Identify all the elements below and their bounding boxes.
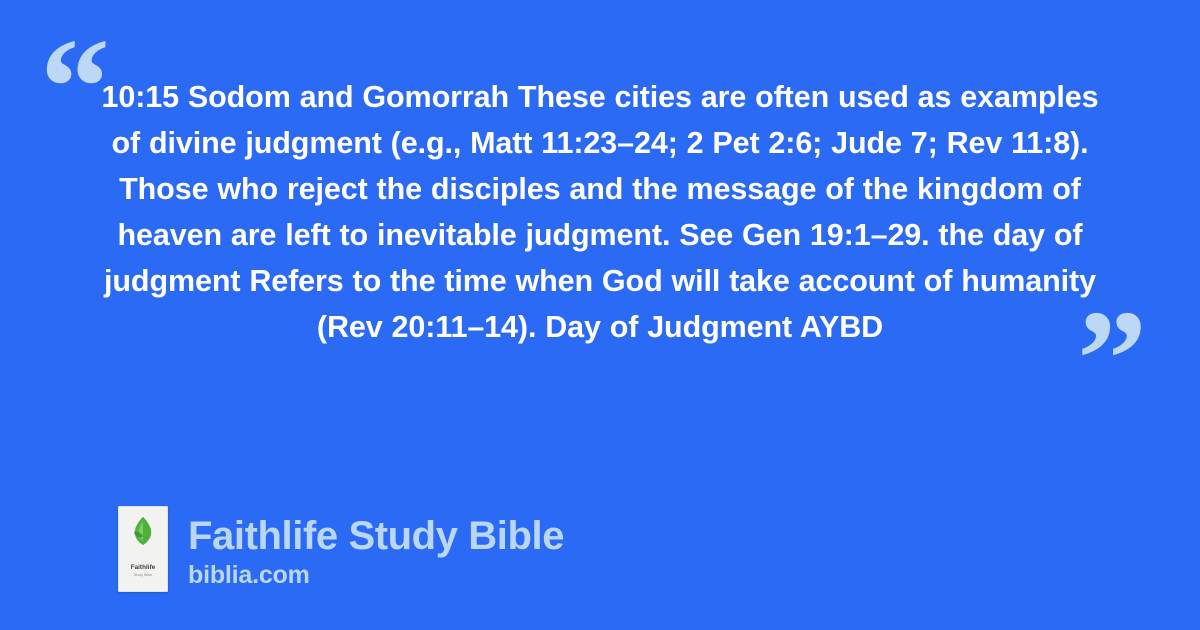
brand-url[interactable]: biblia.com (188, 560, 564, 590)
quote-text: 10:15 Sodom and Gomorrah These cities ar… (100, 74, 1100, 350)
brand-title: Faithlife Study Bible (188, 514, 564, 558)
branding-footer: Faithlife Study Bible Faithlife Study Bi… (118, 506, 564, 592)
quote-body: 10:15 Sodom and Gomorrah These cities ar… (100, 74, 1100, 404)
quote-card: “ 10:15 Sodom and Gomorrah These cities … (0, 0, 1200, 630)
brand-text-block: Faithlife Study Bible biblia.com (188, 506, 564, 590)
cover-subtitle-label: Study Bible (119, 573, 167, 577)
leaf-flame-icon (132, 516, 154, 546)
closing-quote-icon: ” (1077, 290, 1147, 430)
cover-brand-label: Faithlife (119, 564, 167, 571)
book-cover-thumbnail: Faithlife Study Bible (118, 506, 168, 592)
